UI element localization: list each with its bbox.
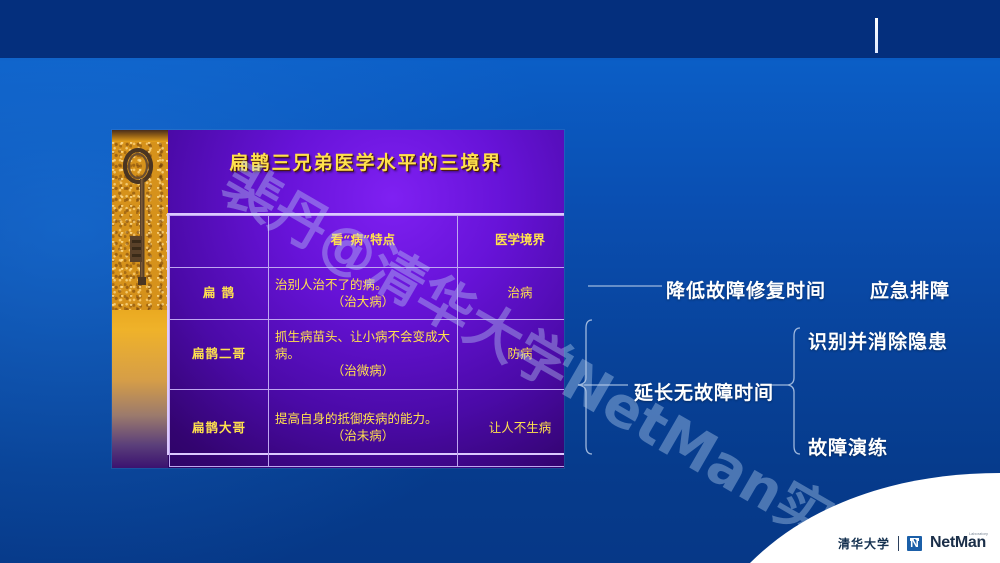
three-realms-table: 看“病”特点 医学境界 扁 鹊 治别人治不了的病。 （治大病） 治病 扁鹊二哥 … [167, 213, 564, 455]
outline-leaf-emergency: 应急排障 [870, 276, 950, 303]
row-feature-paren: （治未病） [275, 428, 451, 445]
top-right-accent-line [875, 18, 878, 53]
row-feature-main: 治别人治不了的病。 [275, 277, 388, 292]
embedded-slide-image: 扁鹊三兄弟医学水平的三境界 看“病”特点 医学境界 扁 鹊 治别人治不了的病。 … [112, 130, 564, 468]
netman-wordmark: NetMan Laboratory [930, 534, 986, 552]
sand-column [112, 130, 168, 468]
header-cell-feature: 看“病”特点 [269, 216, 458, 268]
top-band [0, 0, 1000, 58]
slide-canvas: 扁鹊三兄弟医学水平的三境界 看“病”特点 医学境界 扁 鹊 治别人治不了的病。 … [0, 0, 1000, 563]
right-brace [788, 328, 800, 454]
footer-logo: 清华大学 N NetMan Laboratory [838, 534, 986, 552]
netman-superscript: Laboratory [969, 531, 988, 536]
row-feature-paren: （治大病） [275, 294, 451, 311]
header-cell-level: 医学境界 [458, 216, 565, 268]
netman-mark-icon: N [907, 536, 922, 551]
row-feature: 提高自身的抵御疾病的能力。 （治未病） [269, 390, 458, 467]
picture-title: 扁鹊三兄弟医学水平的三境界 [168, 148, 564, 175]
outline-branch-extend: 延长无故障时间 [634, 378, 774, 405]
mindmap-outline: 降低故障修复时间 应急排障 延长无故障时间 识别并消除隐患 故障演练 [570, 250, 1000, 490]
row-name: 扁鹊二哥 [170, 320, 269, 390]
row-feature-main: 提高自身的抵御疾病的能力。 [275, 411, 438, 426]
row-level: 防病 [458, 320, 565, 390]
row-feature: 抓生病苗头、让小病不会变成大病。 （治微病） [269, 320, 458, 390]
row-feature: 治别人治不了的病。 （治大病） [269, 268, 458, 320]
row-name: 扁鹊大哥 [170, 390, 269, 467]
row-level: 让人不生病 [458, 390, 565, 467]
table-row: 扁 鹊 治别人治不了的病。 （治大病） 治病 [170, 268, 565, 320]
netman-mark-letter: N [907, 536, 922, 551]
row-name: 扁 鹊 [170, 268, 269, 320]
header-cell-blank [170, 216, 269, 268]
row-feature-main: 抓生病苗头、让小病不会变成大病。 [275, 329, 450, 361]
outline-branch-reduce: 降低故障修复时间 [666, 276, 826, 303]
tsinghua-wordmark: 清华大学 [838, 535, 890, 552]
table-row: 扁鹊大哥 提高自身的抵御疾病的能力。 （治未病） 让人不生病 [170, 390, 565, 467]
outline-leaf-identify: 识别并消除隐患 [808, 327, 948, 354]
footer-corner: 清华大学 N NetMan Laboratory [750, 473, 1000, 563]
left-brace [578, 320, 592, 454]
logo-divider [898, 536, 899, 551]
table-header-row: 看“病”特点 医学境界 [170, 216, 565, 268]
netman-name: NetMan [930, 534, 986, 551]
key-icon [116, 144, 164, 308]
row-level: 治病 [458, 268, 565, 320]
outline-leaf-drill: 故障演练 [808, 433, 888, 460]
row-feature-paren: （治微病） [275, 363, 451, 380]
table-row: 扁鹊二哥 抓生病苗头、让小病不会变成大病。 （治微病） 防病 [170, 320, 565, 390]
